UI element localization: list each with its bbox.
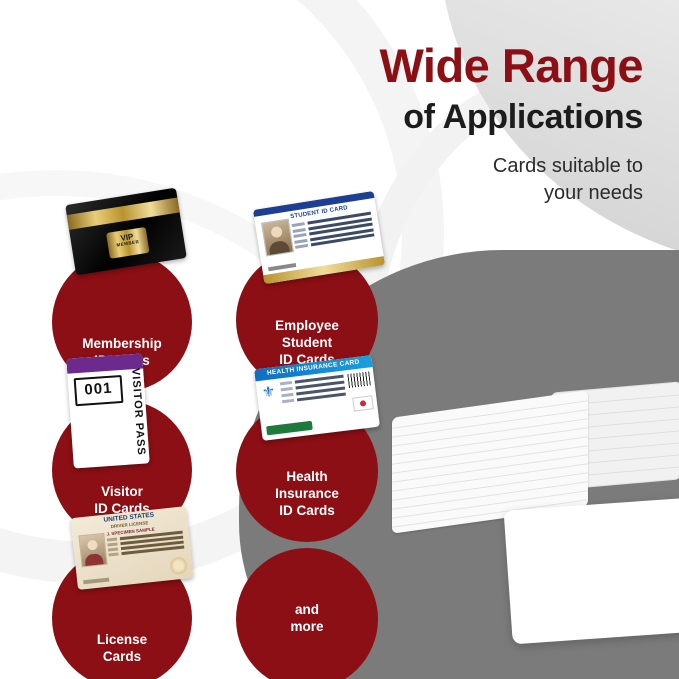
poster-canvas: Wide Range of Applications Cards suitabl… bbox=[0, 0, 679, 679]
license-photo bbox=[78, 533, 107, 568]
headline-secondary: of Applications bbox=[223, 95, 643, 139]
headline-block: Wide Range of Applications Cards suitabl… bbox=[223, 42, 643, 207]
caduceus-icon: ⚜ bbox=[261, 383, 279, 403]
flag-icon bbox=[352, 395, 374, 411]
health-barcode bbox=[347, 371, 371, 388]
blank-card-front bbox=[504, 498, 679, 645]
visitor-number: 001 bbox=[74, 375, 124, 406]
circle-label-and-more: and more bbox=[290, 602, 323, 636]
license-hologram-seal bbox=[169, 556, 188, 575]
card-art-health-insurance: HEALTH INSURANCE CARD ⚜ bbox=[254, 355, 380, 441]
vip-gold-band bbox=[67, 198, 180, 230]
headline-subtitle-line2: your needs bbox=[223, 180, 643, 207]
health-badge bbox=[266, 421, 313, 436]
health-field-list bbox=[280, 375, 346, 407]
circle-label-health-insurance: Health Insurance ID Cards bbox=[275, 469, 339, 542]
headline-subtitle-line1: Cards suitable to bbox=[223, 153, 643, 180]
vip-seal: VIP MEMBER bbox=[106, 227, 150, 259]
card-art-visitor-pass: 001 VISITOR PASS bbox=[66, 353, 149, 468]
circle-and-more[interactable]: and more bbox=[236, 548, 378, 679]
headline-primary: Wide Range bbox=[223, 42, 643, 89]
vip-seal-sub: MEMBER bbox=[108, 239, 148, 250]
circle-label-license: License Cards bbox=[97, 632, 147, 679]
license-signature bbox=[83, 578, 109, 585]
student-photo bbox=[261, 219, 294, 257]
card-art-driver-license: UNITED STATES DRIVER LICENSE J. SPECIMEN… bbox=[71, 506, 194, 590]
